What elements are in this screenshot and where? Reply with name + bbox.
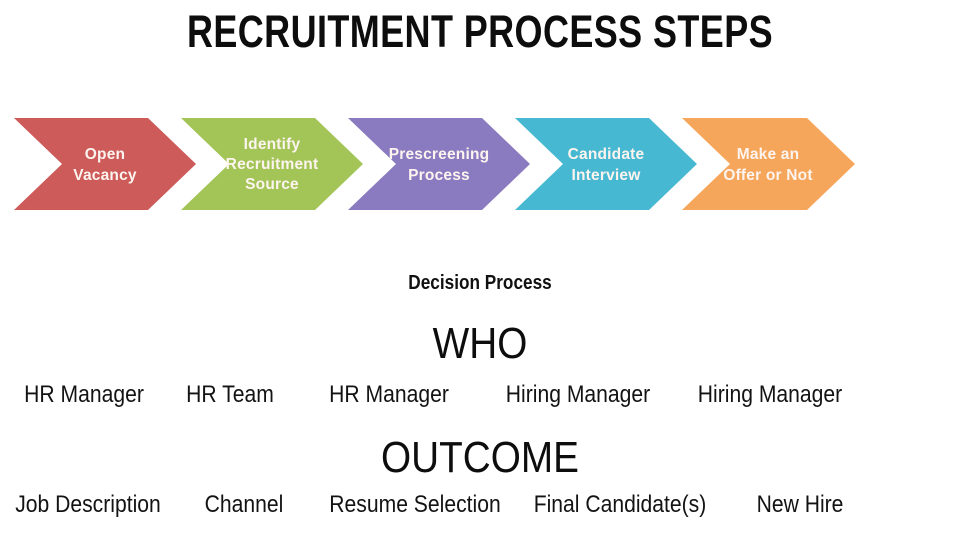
chevron-label-step-4-line-1: Candidate <box>568 146 645 163</box>
chevron-shape-step-4 <box>515 118 697 210</box>
outcome-value-step-3: Resume Selection <box>323 489 508 521</box>
outcome-value-step-1: Job Description <box>9 489 167 521</box>
process-step-prescreening-process[interactable]: Prescreening Process <box>348 118 530 210</box>
chevron-label-step-5-line-2: Offer or Not <box>723 167 812 184</box>
process-step-candidate-interview[interactable]: Candidate Interview <box>515 118 697 210</box>
process-step-identify-recruitment-source[interactable]: Identify Recruitment Source <box>181 118 363 210</box>
chevron-label-step-5-line-1: Make an <box>737 146 800 163</box>
who-values-row: HR Manager HR Team HR Manager Hiring Man… <box>0 378 960 412</box>
who-value-step-4: Hiring Manager <box>494 379 663 411</box>
chevron-label-step-1-line-1: Open <box>85 146 125 163</box>
process-chevron-band: Open Vacancy Identify Recruitment Source… <box>0 112 960 216</box>
chevron-label-step-1-line-2: Vacancy <box>73 167 137 184</box>
chevron-label-step-2-line-3: Source <box>245 176 299 193</box>
who-value-step-3: HR Manager <box>307 379 471 411</box>
who-section-heading: WHO <box>58 318 903 370</box>
decision-process-label: Decision Process <box>67 270 893 296</box>
chevron-shape-step-1 <box>14 118 196 210</box>
outcome-section-heading: OUTCOME <box>58 432 903 484</box>
who-value-step-2: HR Team <box>172 379 288 411</box>
chevron-label-step-2-line-1: Identify <box>244 136 301 153</box>
who-value-step-1: HR Manager <box>14 379 155 411</box>
process-step-make-an-offer-or-not[interactable]: Make an Offer or Not <box>682 118 855 210</box>
chevron-label-step-3-line-1: Prescreening <box>389 146 490 163</box>
chevron-label-step-2-line-2: Recruitment <box>226 156 319 173</box>
chevron-shape-step-3 <box>348 118 530 210</box>
chevron-shape-step-5 <box>682 118 855 210</box>
chevron-label-step-3-line-2: Process <box>408 167 470 184</box>
page-title: RECRUITMENT PROCESS STEPS <box>96 4 864 60</box>
outcome-value-step-2: Channel <box>186 489 302 521</box>
who-value-step-5: Hiring Manager <box>686 379 855 411</box>
outcome-value-step-4: Final Candidate(s) <box>532 489 708 521</box>
chevron-label-step-4-line-2: Interview <box>572 167 642 184</box>
outcome-value-step-5: New Hire <box>730 489 871 521</box>
outcome-values-row: Job Description Channel Resume Selection… <box>0 488 960 522</box>
process-step-open-vacancy[interactable]: Open Vacancy <box>14 118 196 210</box>
